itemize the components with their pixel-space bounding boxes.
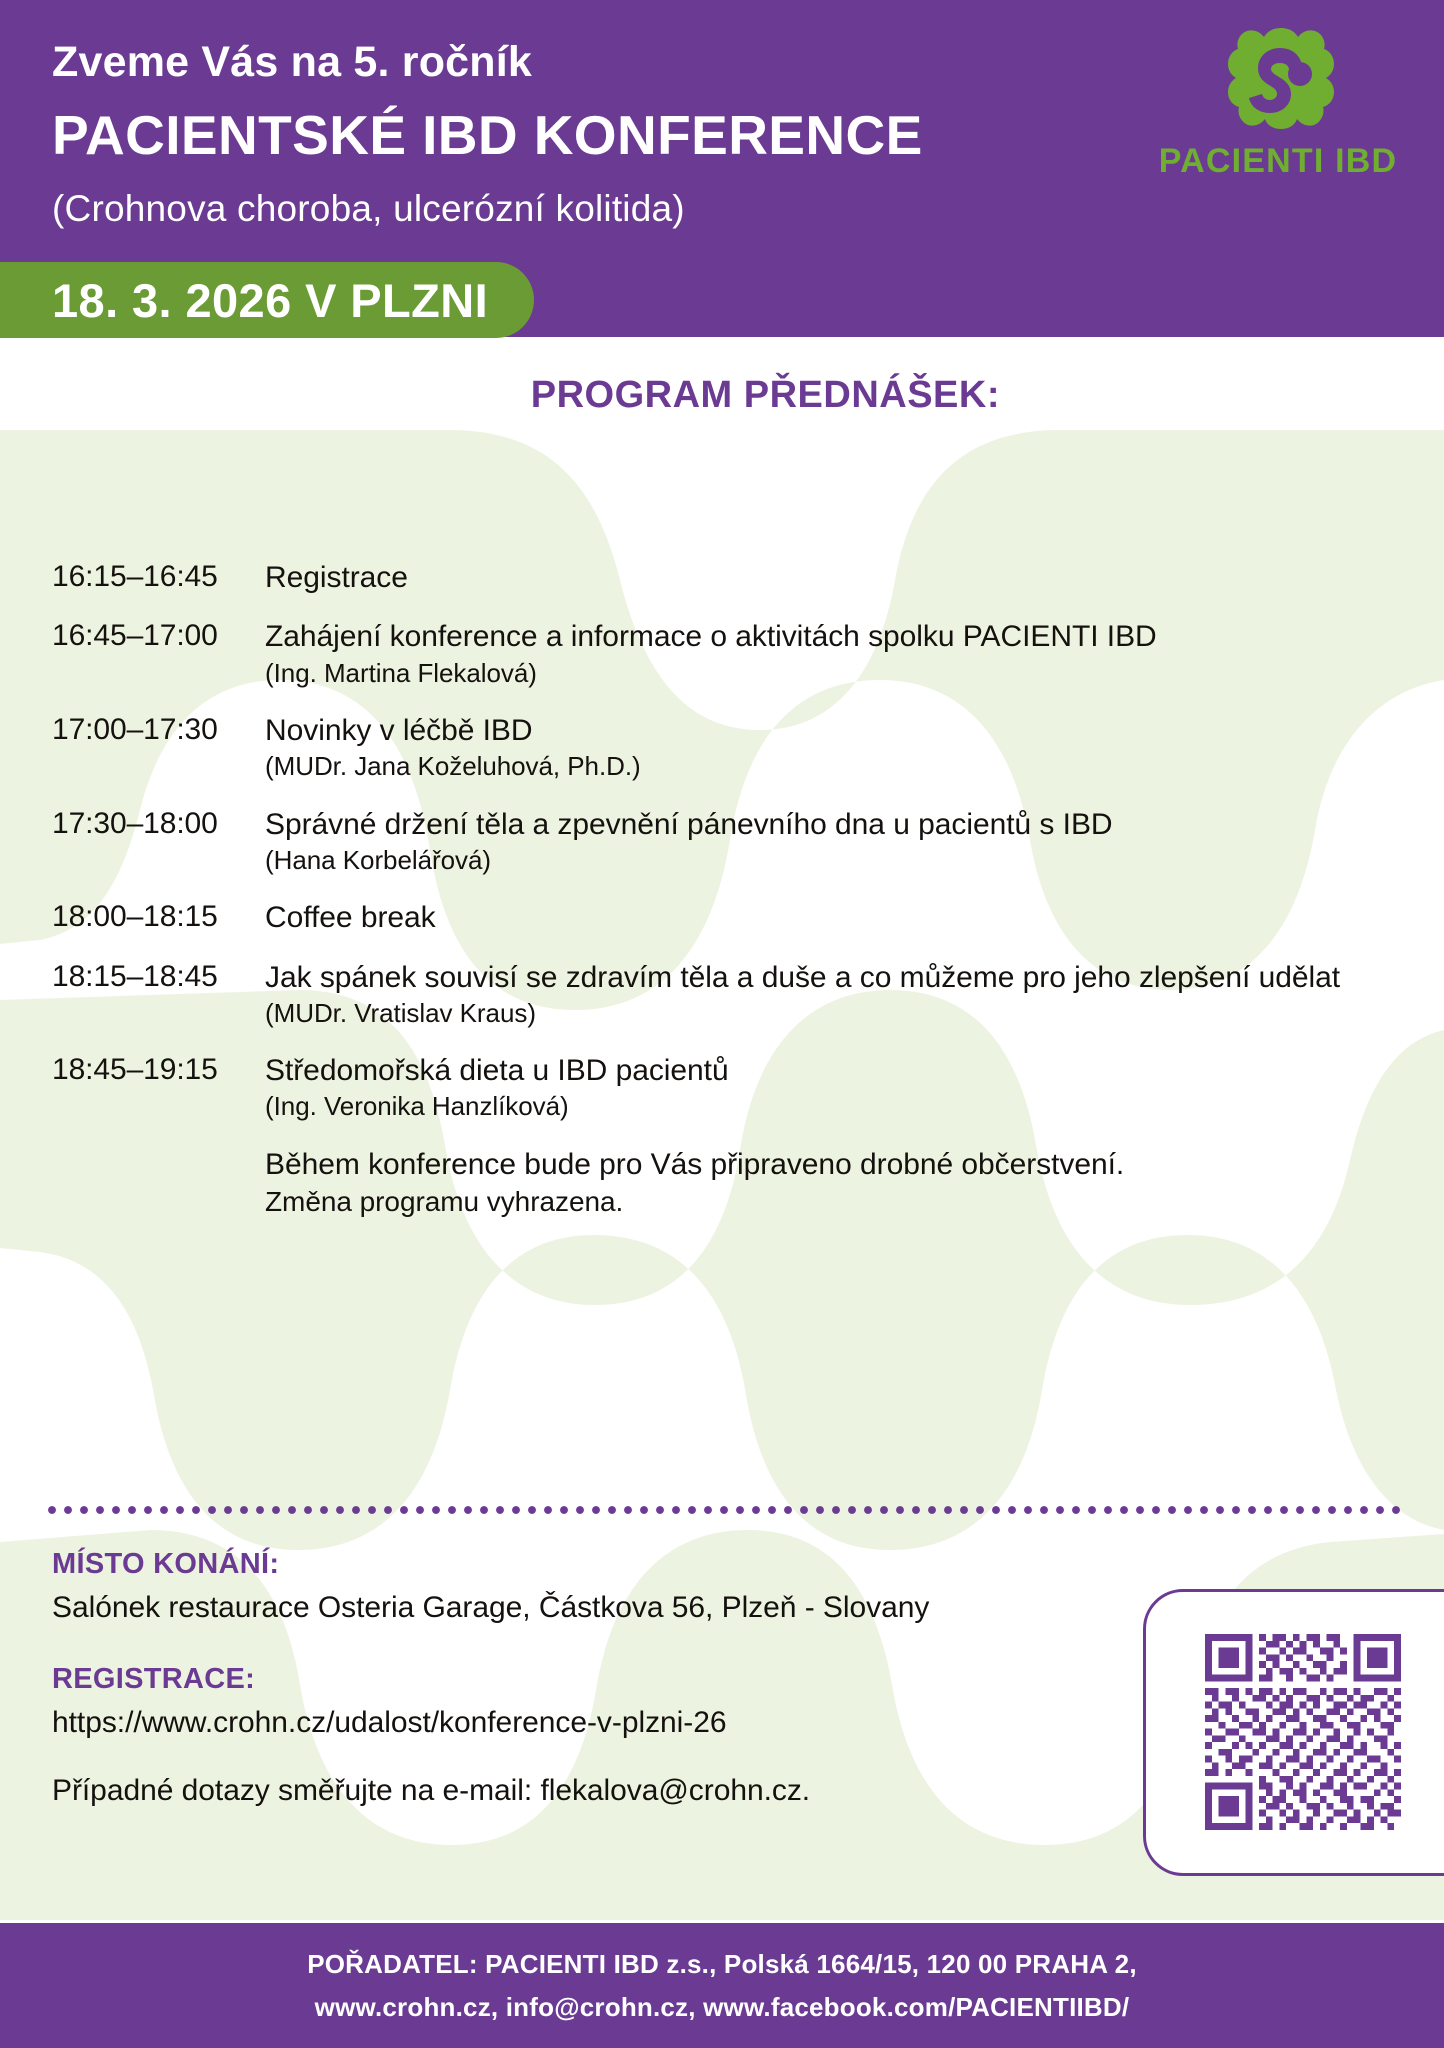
program-heading: PROGRAM PŘEDNÁŠEK:: [0, 374, 1000, 417]
schedule-speaker: (Ing. Veronika Hanzlíková): [265, 1091, 1392, 1122]
schedule-time: 18:15–18:45: [52, 960, 265, 1030]
schedule-time: 18:00–18:15: [52, 900, 265, 935]
qr-code[interactable]: [1205, 1634, 1401, 1830]
schedule-note: Během konference bude pro Vás připraveno…: [52, 1147, 1392, 1219]
schedule-speaker: (MUDr. Vratislav Kraus): [265, 998, 1392, 1029]
schedule-body: Zahájení konference a informace o aktivi…: [265, 619, 1392, 689]
date-badge: 18. 3. 2026 V PLZNI: [0, 262, 534, 338]
schedule-row: 18:15–18:45 Jak spánek souvisí se zdraví…: [52, 960, 1392, 1030]
brand-logo: PACIENTI IBD: [1158, 26, 1398, 186]
intestine-icon: [1222, 26, 1338, 138]
date-badge-label: 18. 3. 2026 V PLZNI: [52, 273, 488, 328]
logo-text: PACIENTI IBD: [1158, 142, 1398, 181]
schedule-body: Novinky v léčbě IBD (MUDr. Jana Koželuho…: [265, 713, 1392, 783]
header-subtitle: (Crohnova choroba, ulcerózní kolitida): [52, 188, 685, 230]
schedule-row: 16:45–17:00 Zahájení konference a inform…: [52, 619, 1392, 689]
program-change-note: Změna programu vyhrazena.: [265, 1185, 1392, 1219]
venue-value: Salónek restaurace Osteria Garage, Částk…: [52, 1591, 1052, 1625]
registration-label: REGISTRACE:: [52, 1663, 1052, 1696]
contact-email-line[interactable]: Případné dotazy směřujte na e-mail: flek…: [52, 1774, 1052, 1808]
venue-label: MÍSTO KONÁNÍ:: [52, 1548, 1052, 1581]
schedule-body: Coffee break: [265, 900, 1392, 935]
schedule-title: Středomořská dieta u IBD pacientů: [265, 1053, 1392, 1088]
footer-organizer: POŘADATEL: PACIENTI IBD z.s., Polská 166…: [307, 1943, 1137, 1985]
page-title: PACIENTSKÉ IBD KONFERENCE: [52, 103, 923, 167]
poster-root: Zveme Vás na 5. ročník PACIENTSKÉ IBD KO…: [0, 0, 1444, 2048]
schedule-title: Správné držení těla a zpevnění pánevního…: [265, 807, 1392, 842]
schedule-title: Coffee break: [265, 900, 1392, 935]
schedule-note-spacer: [52, 1147, 265, 1219]
schedule-title: Registrace: [265, 560, 1392, 595]
schedule-time: 17:00–17:30: [52, 713, 265, 783]
schedule-row: 18:45–19:15 Středomořská dieta u IBD pac…: [52, 1053, 1392, 1123]
schedule-title: Jak spánek souvisí se zdravím těla a duš…: [265, 960, 1392, 995]
info-section: MÍSTO KONÁNÍ: Salónek restaurace Osteria…: [52, 1548, 1052, 1846]
schedule-body: Jak spánek souvisí se zdravím těla a duš…: [265, 960, 1392, 1030]
dotted-divider: [44, 1504, 1404, 1516]
schedule-time: 16:15–16:45: [52, 560, 265, 595]
refreshments-note: Během konference bude pro Vás připraveno…: [265, 1147, 1392, 1182]
schedule-time: 16:45–17:00: [52, 619, 265, 689]
schedule-row: 17:00–17:30 Novinky v léčbě IBD (MUDr. J…: [52, 713, 1392, 783]
schedule-row: 16:15–16:45 Registrace: [52, 560, 1392, 595]
schedule-speaker: (MUDr. Jana Koželuhová, Ph.D.): [265, 751, 1392, 782]
schedule-body: Registrace: [265, 560, 1392, 595]
program-schedule: 16:15–16:45 Registrace 16:45–17:00 Zaháj…: [52, 560, 1392, 1243]
poster-footer: POŘADATEL: PACIENTI IBD z.s., Polská 166…: [0, 1923, 1444, 2048]
registration-url[interactable]: https://www.crohn.cz/udalost/konference-…: [52, 1706, 1052, 1740]
qr-card: [1143, 1589, 1444, 1876]
header-kicker: Zveme Vás na 5. ročník: [52, 38, 532, 87]
schedule-time: 17:30–18:00: [52, 807, 265, 877]
schedule-note-body: Během konference bude pro Vás připraveno…: [265, 1147, 1392, 1219]
schedule-speaker: (Ing. Martina Flekalová): [265, 658, 1392, 689]
schedule-speaker: (Hana Korbelářová): [265, 845, 1392, 876]
schedule-body: Středomořská dieta u IBD pacientů (Ing. …: [265, 1053, 1392, 1123]
footer-links: www.crohn.cz, info@crohn.cz, www.faceboo…: [315, 1986, 1130, 2028]
schedule-time: 18:45–19:15: [52, 1053, 265, 1123]
schedule-row: 18:00–18:15 Coffee break: [52, 900, 1392, 935]
schedule-title: Zahájení konference a informace o aktivi…: [265, 619, 1392, 654]
schedule-title: Novinky v léčbě IBD: [265, 713, 1392, 748]
schedule-row: 17:30–18:00 Správné držení těla a zpevně…: [52, 807, 1392, 877]
schedule-body: Správné držení těla a zpevnění pánevního…: [265, 807, 1392, 877]
